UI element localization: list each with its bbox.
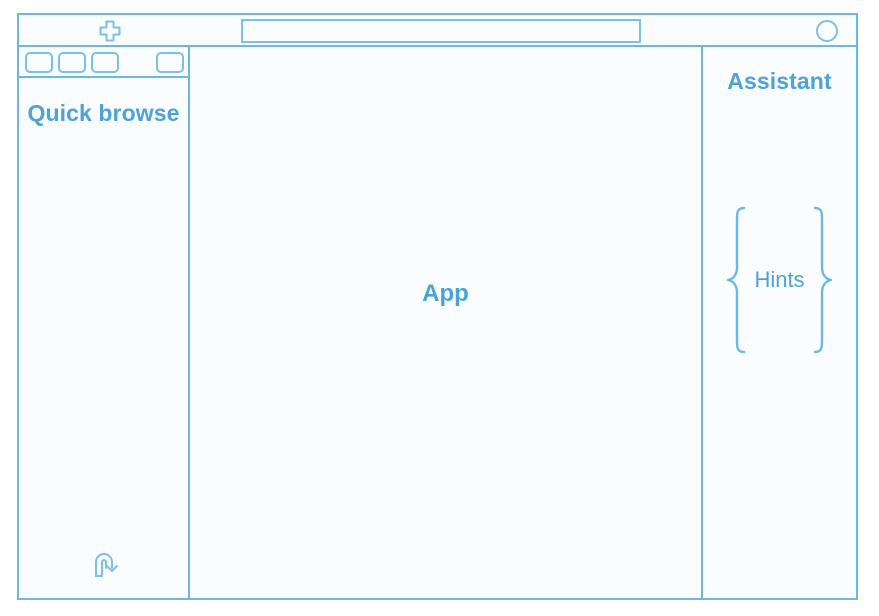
sidebar-tab-3[interactable] — [91, 52, 119, 73]
plus-icon[interactable] — [97, 19, 123, 43]
hints-label: Hints — [747, 267, 811, 293]
wireframe-canvas: Quick browse App Assistant — [0, 0, 879, 616]
left-brace-icon — [725, 205, 747, 355]
sidebar-tab-4[interactable] — [156, 52, 184, 73]
assistant-panel: Assistant Hints — [703, 47, 856, 598]
sidebar-tabbar — [19, 47, 188, 78]
quick-browse-title: Quick browse — [19, 99, 188, 128]
u-turn-arrow-icon[interactable] — [87, 548, 121, 580]
assistant-title: Assistant — [703, 68, 856, 95]
right-brace-icon — [812, 205, 834, 355]
hints-group: Hints — [703, 202, 856, 357]
app-title: App — [190, 0, 701, 598]
sidebar-panel: Quick browse — [19, 47, 190, 598]
sidebar-body: Quick browse — [19, 78, 188, 598]
app-panel: App — [190, 47, 703, 598]
sidebar-tab-2[interactable] — [58, 52, 86, 73]
circle-avatar-icon[interactable] — [816, 20, 838, 42]
sidebar-tab-1[interactable] — [25, 52, 53, 73]
window-frame: Quick browse App Assistant — [17, 13, 858, 600]
